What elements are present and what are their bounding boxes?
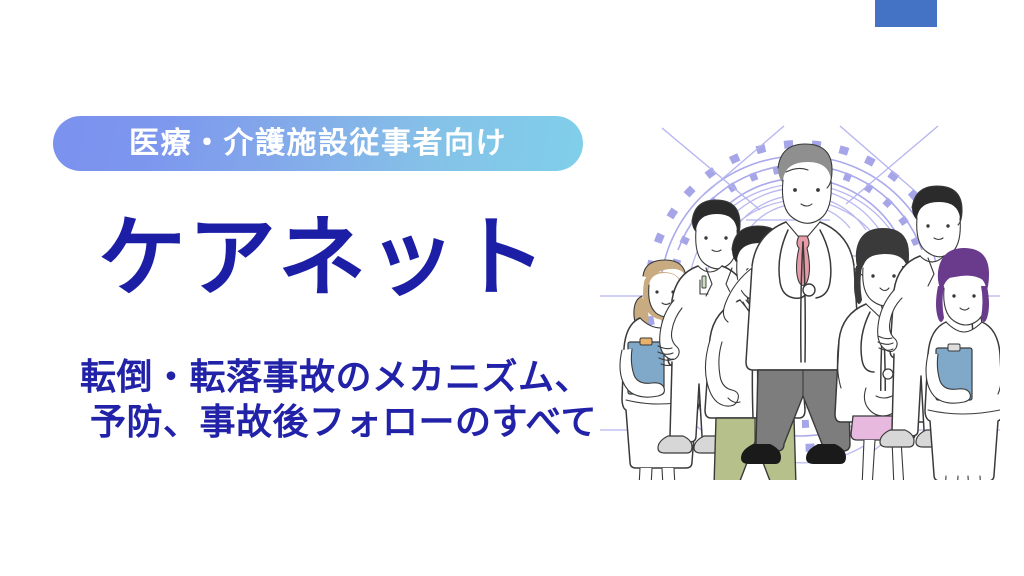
page-title: ケアネット xyxy=(98,212,548,304)
audience-badge: 医療・介護施設従事者向け xyxy=(53,116,583,171)
audience-badge-label: 医療・介護施設従事者向け xyxy=(129,129,507,159)
subtitle: 転倒・転落事故のメカニズム、 予防、事故後フォローのすべて xyxy=(80,354,580,445)
medical-team-illustration: .ring-dash { fill: none; stroke: #a5a5e8… xyxy=(600,100,1000,480)
corner-accent-marker xyxy=(875,0,937,27)
diagonal-line-top-left xyxy=(662,128,760,210)
subtitle-line-1: 転倒・転落事故のメカニズム、 xyxy=(80,354,580,399)
slide-canvas: 医療・介護施設従事者向け ケアネット 転倒・転落事故のメカニズム、 予防、事故後… xyxy=(0,0,1024,576)
stethoscope-icon xyxy=(803,284,815,296)
subtitle-line-2: 予防、事故後フォローのすべて xyxy=(80,399,580,444)
text-column: 医療・介護施設従事者向け ケアネット 転倒・転落事故のメカニズム、 予防、事故後… xyxy=(0,0,610,576)
illustration-svg: .ring-dash { fill: none; stroke: #a5a5e8… xyxy=(600,100,1000,480)
